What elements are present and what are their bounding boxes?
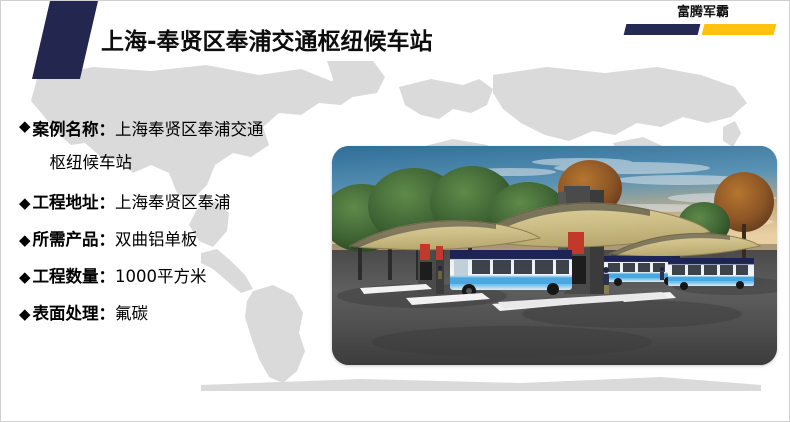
spec-label: 工程地址： — [33, 193, 116, 212]
list-item: ◆ 案例名称：上海奉贤区奉浦交通 枢纽候车站 — [19, 113, 339, 179]
spec-label: 工程数量： — [33, 267, 116, 286]
company-logo: 富腾军霸 — [625, 5, 775, 37]
list-item: ◆ 所需产品：双曲铝单板 — [19, 227, 339, 253]
navy-accent-shape — [32, 1, 98, 79]
presentation-slide: 上海-奉贤区奉浦交通枢纽候车站 富腾军霸 ◆ 案例名称：上海奉贤区奉浦交通 枢纽… — [0, 0, 790, 422]
list-item: ◆ 工程数量：1000平方米 — [19, 264, 339, 290]
list-item: ◆ 工程地址：上海奉贤区奉浦 — [19, 190, 339, 216]
spec-value: 上海奉贤区奉浦 — [115, 193, 231, 212]
spec-value: 1000平方米 — [115, 267, 207, 286]
spec-value: 双曲铝单板 — [115, 230, 198, 249]
diamond-bullet-icon: ◆ — [19, 190, 31, 216]
spec-label: 所需产品： — [33, 230, 116, 249]
page-title: 上海-奉贤区奉浦交通枢纽候车站 — [101, 27, 433, 57]
spec-value: 上海奉贤区奉浦交通 — [115, 120, 264, 139]
diamond-bullet-icon: ◆ — [19, 264, 31, 290]
logo-bar-navy — [624, 24, 701, 35]
spec-value-continuation: 枢纽候车站 — [33, 146, 339, 179]
spec-value: 氟碳 — [115, 304, 148, 323]
diamond-bullet-icon: ◆ — [19, 227, 31, 253]
spec-label: 案例名称： — [33, 120, 116, 139]
project-photo — [332, 146, 777, 365]
diamond-bullet-icon: ◆ — [19, 113, 31, 139]
logo-text: 富腾军霸 — [677, 5, 729, 21]
list-item: ◆ 表面处理：氟碳 — [19, 301, 339, 327]
specification-list: ◆ 案例名称：上海奉贤区奉浦交通 枢纽候车站 ◆ 工程地址：上海奉贤区奉浦 ◆ … — [19, 113, 339, 338]
spec-label: 表面处理： — [33, 304, 116, 323]
logo-bar-yellow — [702, 24, 777, 35]
diamond-bullet-icon: ◆ — [19, 301, 31, 327]
